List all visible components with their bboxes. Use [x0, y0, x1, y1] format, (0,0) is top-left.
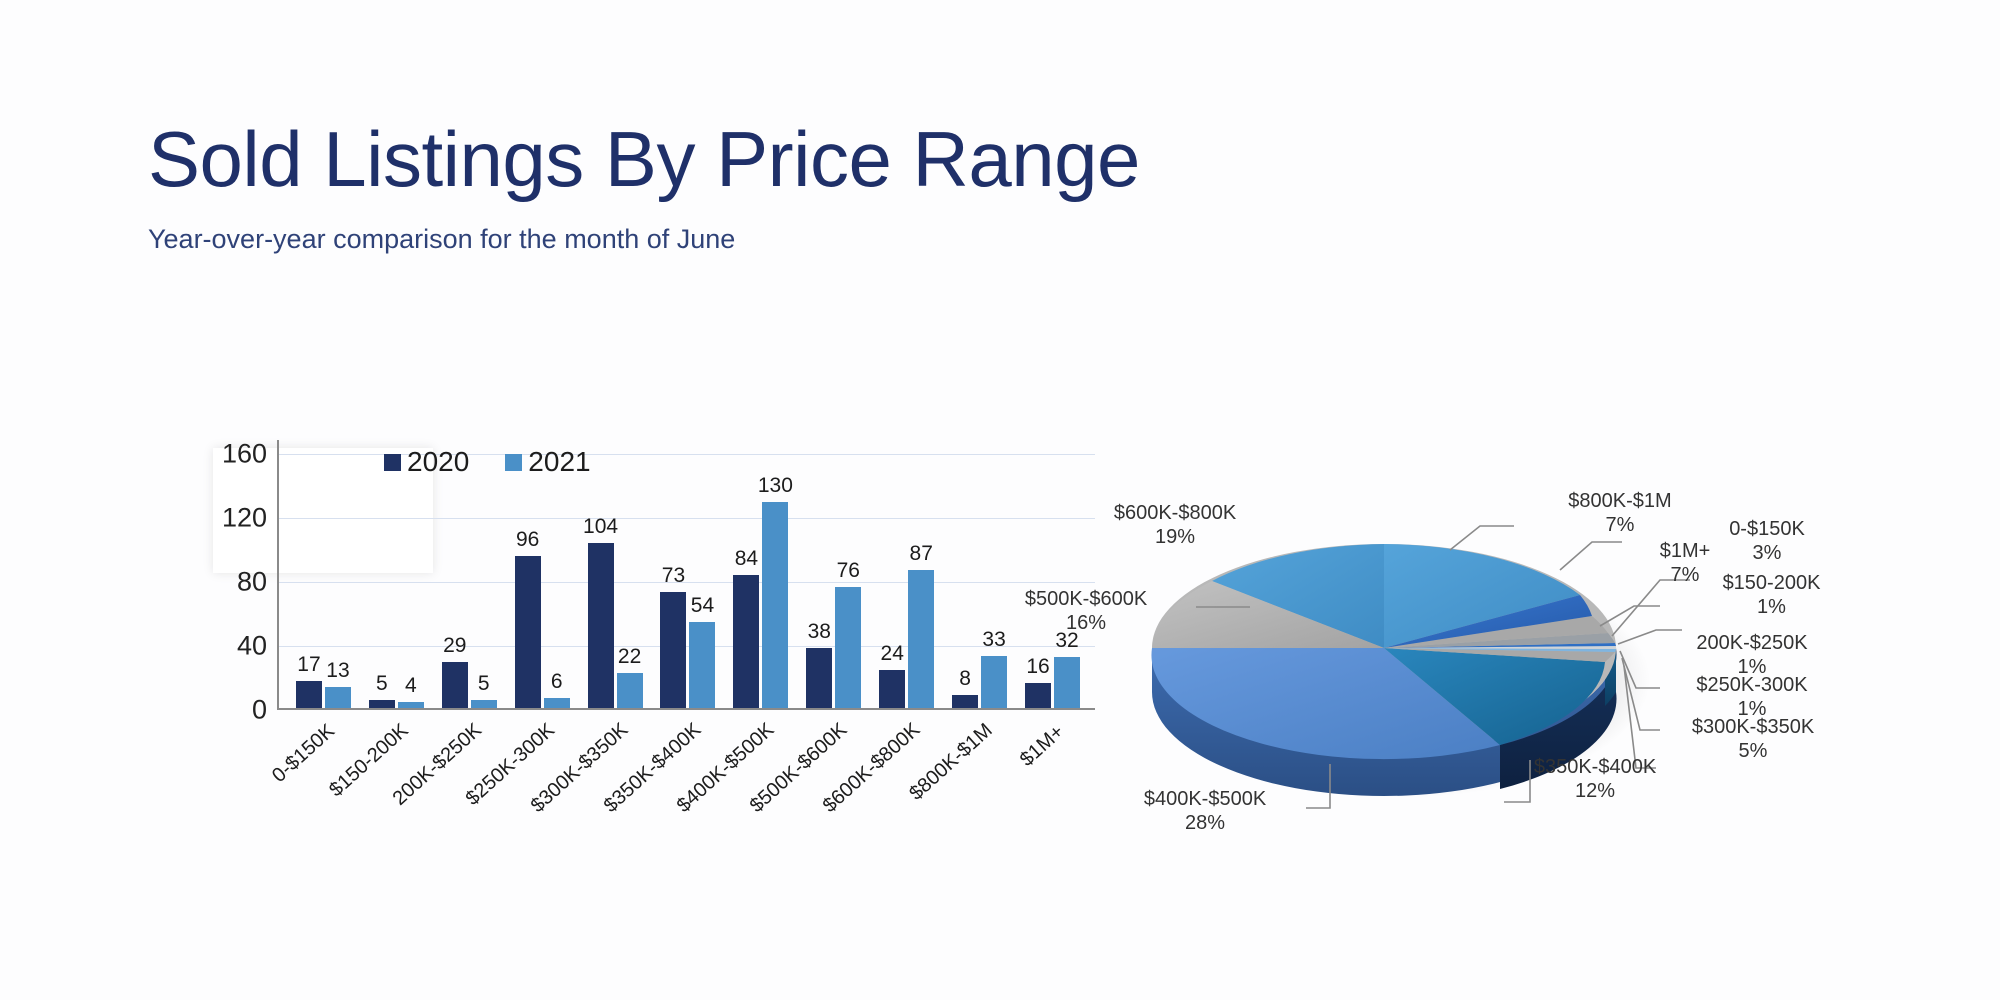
bar-value-label: 16	[1026, 655, 1049, 679]
bar-group: 966	[506, 438, 579, 708]
pie-callout-label: $300K-$350K	[1692, 716, 1814, 738]
bar-value-label: 38	[808, 620, 831, 644]
bar-rect	[544, 698, 570, 708]
pie-callout-percent: 7%	[1520, 514, 1720, 538]
bar-value-label: 8	[959, 667, 971, 691]
bar-rect	[981, 656, 1007, 708]
bar-value-label: 17	[297, 653, 320, 677]
bar-group: 295	[433, 438, 506, 708]
bar-rect	[908, 570, 934, 708]
bar-2021[interactable]: 130	[762, 438, 788, 708]
bar-2021[interactable]: 4	[398, 438, 424, 708]
bar-rect	[471, 700, 497, 708]
bar-rect	[588, 543, 614, 708]
y-tick-80: 80	[209, 567, 267, 598]
bar-rect	[442, 662, 468, 708]
pie-callout-percent: 16%	[986, 612, 1186, 636]
page-subtitle: Year-over-year comparison for the month …	[148, 224, 1548, 255]
pie-callout-label: $400K-$500K	[1144, 788, 1266, 810]
y-tick-120: 120	[209, 503, 267, 534]
bar-group: 3876	[797, 438, 870, 708]
pie-callout-0-150k: 0-$150K 3%	[1692, 518, 1842, 565]
bar-group: 1632	[1016, 438, 1089, 708]
bar-value-label: 4	[405, 674, 417, 698]
x-label-cell: $1M+	[1016, 716, 1089, 856]
bar-2021[interactable]: 6	[544, 438, 570, 708]
pie-callout-label: $800K-$1M	[1568, 490, 1671, 512]
bar-group: 84130	[724, 438, 797, 708]
bar-rect	[296, 681, 322, 708]
page-header: Sold Listings By Price Range Year-over-y…	[148, 120, 1548, 255]
bar-chart: 160 120 80 40 0 2020 2021 17135429596	[205, 440, 1095, 860]
pie-callout-percent: 28%	[1110, 812, 1300, 836]
bar-rect	[617, 673, 643, 708]
x-axis: 0-$150K$150-200K200K-$250K$250K-300K$300…	[277, 716, 1095, 856]
pie-callout-250k-300k: $250K-300K 1%	[1662, 674, 1842, 721]
bar-group: 54	[360, 438, 433, 708]
pie-callout-label: $150-200K	[1723, 572, 1821, 594]
legend-swatch-icon-2020	[384, 454, 401, 471]
pie-top-face	[1151, 544, 1616, 759]
pie-callout-percent: 3%	[1692, 542, 1842, 566]
bar-2020[interactable]: 5	[369, 438, 395, 708]
pie-callout-600k-800k: $600K-$800K 19%	[1060, 502, 1290, 549]
y-axis: 160 120 80 40 0	[205, 440, 267, 710]
pie-callout-150-200k: $150-200K 1%	[1684, 572, 1859, 619]
bar-rect	[689, 622, 715, 708]
bar-value-label: 87	[910, 542, 933, 566]
bar-2020[interactable]: 96	[515, 438, 541, 708]
x-label-cell: $800K-$1M	[943, 716, 1016, 856]
bar-group: 833	[943, 438, 1016, 708]
pie-callout-percent: 12%	[1500, 780, 1690, 804]
bar-value-label: 76	[837, 559, 860, 583]
pie-callout-400k-500k: $400K-$500K 28%	[1110, 788, 1300, 835]
bar-value-label: 73	[662, 564, 685, 588]
pie-chart: $600K-$800K 19% $800K-$1M 7% $1M+ 7% 0-$…	[1100, 430, 1980, 850]
bar-2020[interactable]: 38	[806, 438, 832, 708]
bar-value-label: 24	[881, 642, 904, 666]
x-axis-label: 0-$150K	[268, 720, 340, 788]
pie-callout-350k-400k: $350K-$400K 12%	[1500, 756, 1690, 803]
bar-2020[interactable]: 24	[879, 438, 905, 708]
pie-callout-label: $500K-$600K	[1025, 588, 1147, 610]
bar-value-label: 54	[691, 594, 714, 618]
bar-2021[interactable]: 22	[617, 438, 643, 708]
pie-callout-label: 200K-$250K	[1696, 632, 1807, 654]
pie-callout-500k-600k: $500K-$600K 16%	[986, 588, 1186, 635]
bar-rect	[1054, 657, 1080, 708]
bar-rect	[733, 575, 759, 708]
bar-rect	[660, 592, 686, 708]
bar-rect	[325, 687, 351, 708]
legend-label-2020: 2020	[407, 446, 469, 478]
pie-callout-label: 0-$150K	[1729, 518, 1805, 540]
bar-rect	[952, 695, 978, 708]
bar-rect	[762, 502, 788, 708]
bar-rect	[369, 700, 395, 708]
bar-rect	[515, 556, 541, 708]
pie-callout-800k-1m: $800K-$1M 7%	[1520, 490, 1720, 537]
bar-value-label: 13	[326, 659, 349, 683]
pie-callout-label: $250K-300K	[1696, 674, 1807, 696]
chart-legend: 2020 2021	[384, 446, 591, 478]
y-tick-160: 160	[209, 439, 267, 470]
bar-2020[interactable]: 16	[1025, 438, 1051, 708]
y-tick-40: 40	[209, 631, 267, 662]
legend-item-2020[interactable]: 2020	[384, 446, 469, 478]
bar-2021[interactable]: 54	[689, 438, 715, 708]
bar-value-label: 22	[618, 645, 641, 669]
legend-item-2021[interactable]: 2021	[505, 446, 590, 478]
bars-container: 1713542959661042273548413038762487833163…	[279, 438, 1095, 708]
bar-group: 2487	[870, 438, 943, 708]
bar-group: 7354	[652, 438, 725, 708]
bar-plot-frame: 160 120 80 40 0 2020 2021 17135429596	[205, 440, 1095, 730]
bar-2020[interactable]: 84	[733, 438, 759, 708]
pie-callout-percent: 1%	[1684, 596, 1859, 620]
pie-callout-200k-250k: 200K-$250K 1%	[1662, 632, 1842, 679]
bar-rect	[835, 587, 861, 708]
bar-group: 1713	[287, 438, 360, 708]
bar-2020[interactable]: 17	[296, 438, 322, 708]
bar-rect	[398, 702, 424, 708]
bar-rect	[1025, 683, 1051, 708]
pie-callout-label: $600K-$800K	[1114, 502, 1236, 524]
legend-label-2021: 2021	[528, 446, 590, 478]
bar-2021[interactable]: 87	[908, 438, 934, 708]
bar-2020[interactable]: 8	[952, 438, 978, 708]
bar-2021[interactable]: 13	[325, 438, 351, 708]
bar-2021[interactable]: 5	[471, 438, 497, 708]
bar-2021[interactable]: 76	[835, 438, 861, 708]
bar-2020[interactable]: 29	[442, 438, 468, 708]
bar-2021[interactable]: 33	[981, 438, 1007, 708]
plot-area: 2020 2021 171354295966104227354841303876…	[277, 440, 1095, 710]
bar-2020[interactable]: 104	[588, 438, 614, 708]
bar-value-label: 96	[516, 528, 539, 552]
bar-2020[interactable]: 73	[660, 438, 686, 708]
bar-value-label: 5	[376, 672, 388, 696]
pie-callout-percent: 19%	[1060, 526, 1290, 550]
pie-callout-label: $350K-$400K	[1534, 756, 1656, 778]
bar-rect	[806, 648, 832, 708]
bar-value-label: 104	[583, 515, 618, 539]
bar-2021[interactable]: 32	[1054, 438, 1080, 708]
y-tick-0: 0	[209, 695, 267, 726]
bar-value-label: 29	[443, 634, 466, 658]
bar-value-label: 5	[478, 672, 490, 696]
bar-group: 10422	[579, 438, 652, 708]
bar-value-label: 130	[758, 474, 793, 498]
x-axis-label: $1M+	[1016, 721, 1069, 772]
bar-rect	[879, 670, 905, 708]
legend-swatch-icon-2021	[505, 454, 522, 471]
bar-value-label: 6	[551, 670, 563, 694]
bar-value-label: 84	[735, 547, 758, 571]
page-title: Sold Listings By Price Range	[148, 120, 1548, 198]
